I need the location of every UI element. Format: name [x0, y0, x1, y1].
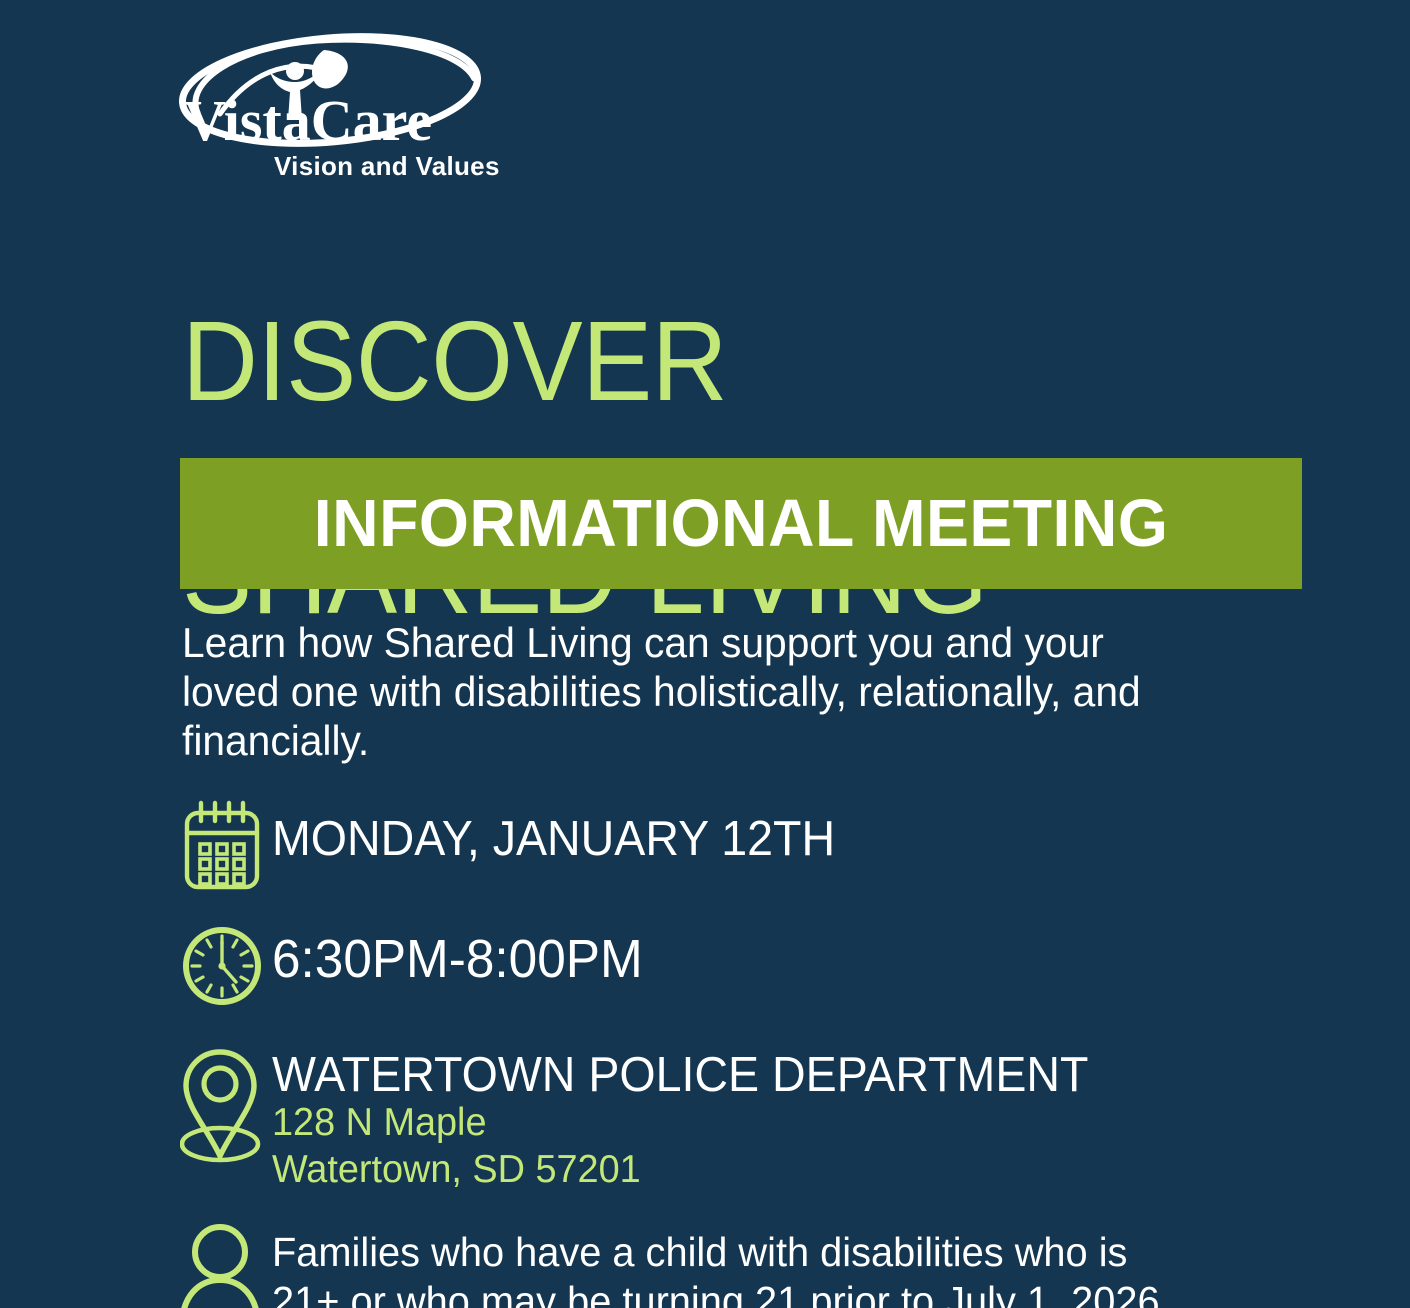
location-pin-icon — [180, 1044, 272, 1190]
logo-wordmark: VistaCare — [184, 88, 432, 153]
calendar-icon — [180, 800, 272, 892]
event-date: MONDAY, JANUARY 12TH — [272, 814, 1230, 864]
venue-address-line-2: Watertown, SD 57201 — [272, 1147, 1298, 1194]
intro-paragraph: Learn how Shared Living can support you … — [182, 618, 1162, 765]
informational-meeting-banner: INFORMATIONAL MEETING — [180, 458, 1302, 589]
logo-tagline: Vision and Values — [274, 151, 500, 180]
vistacare-logo-svg: VistaCare Vision and Values — [178, 28, 508, 180]
flyer-poster: VistaCare Vision and Values DISCOVER SHA… — [0, 0, 1410, 1308]
venue-address-line-1: 128 N Maple — [272, 1100, 1298, 1147]
detail-row-date: MONDAY, JANUARY 12TH — [180, 800, 1280, 892]
clock-icon — [180, 920, 272, 1012]
event-time: 6:30PM-8:00PM — [272, 932, 1230, 988]
audience-line-1: Families who have a child with disabilit… — [272, 1228, 1308, 1277]
person-icon — [180, 1222, 272, 1308]
vistacare-logo: VistaCare Vision and Values — [178, 28, 508, 180]
detail-row-time: 6:30PM-8:00PM — [180, 920, 1280, 1012]
venue-name: WATERTOWN POLICE DEPARTMENT — [272, 1050, 1277, 1100]
banner-label: INFORMATIONAL MEETING — [314, 490, 1169, 557]
headline-line-1: DISCOVER — [182, 308, 1261, 414]
audience-line-2: 21+ or who may be turning 21 prior to Ju… — [272, 1277, 1308, 1308]
detail-row-audience: Families who have a child with disabilit… — [180, 1222, 1340, 1308]
detail-row-location: WATERTOWN POLICE DEPARTMENT 128 N Maple … — [180, 1044, 1330, 1194]
